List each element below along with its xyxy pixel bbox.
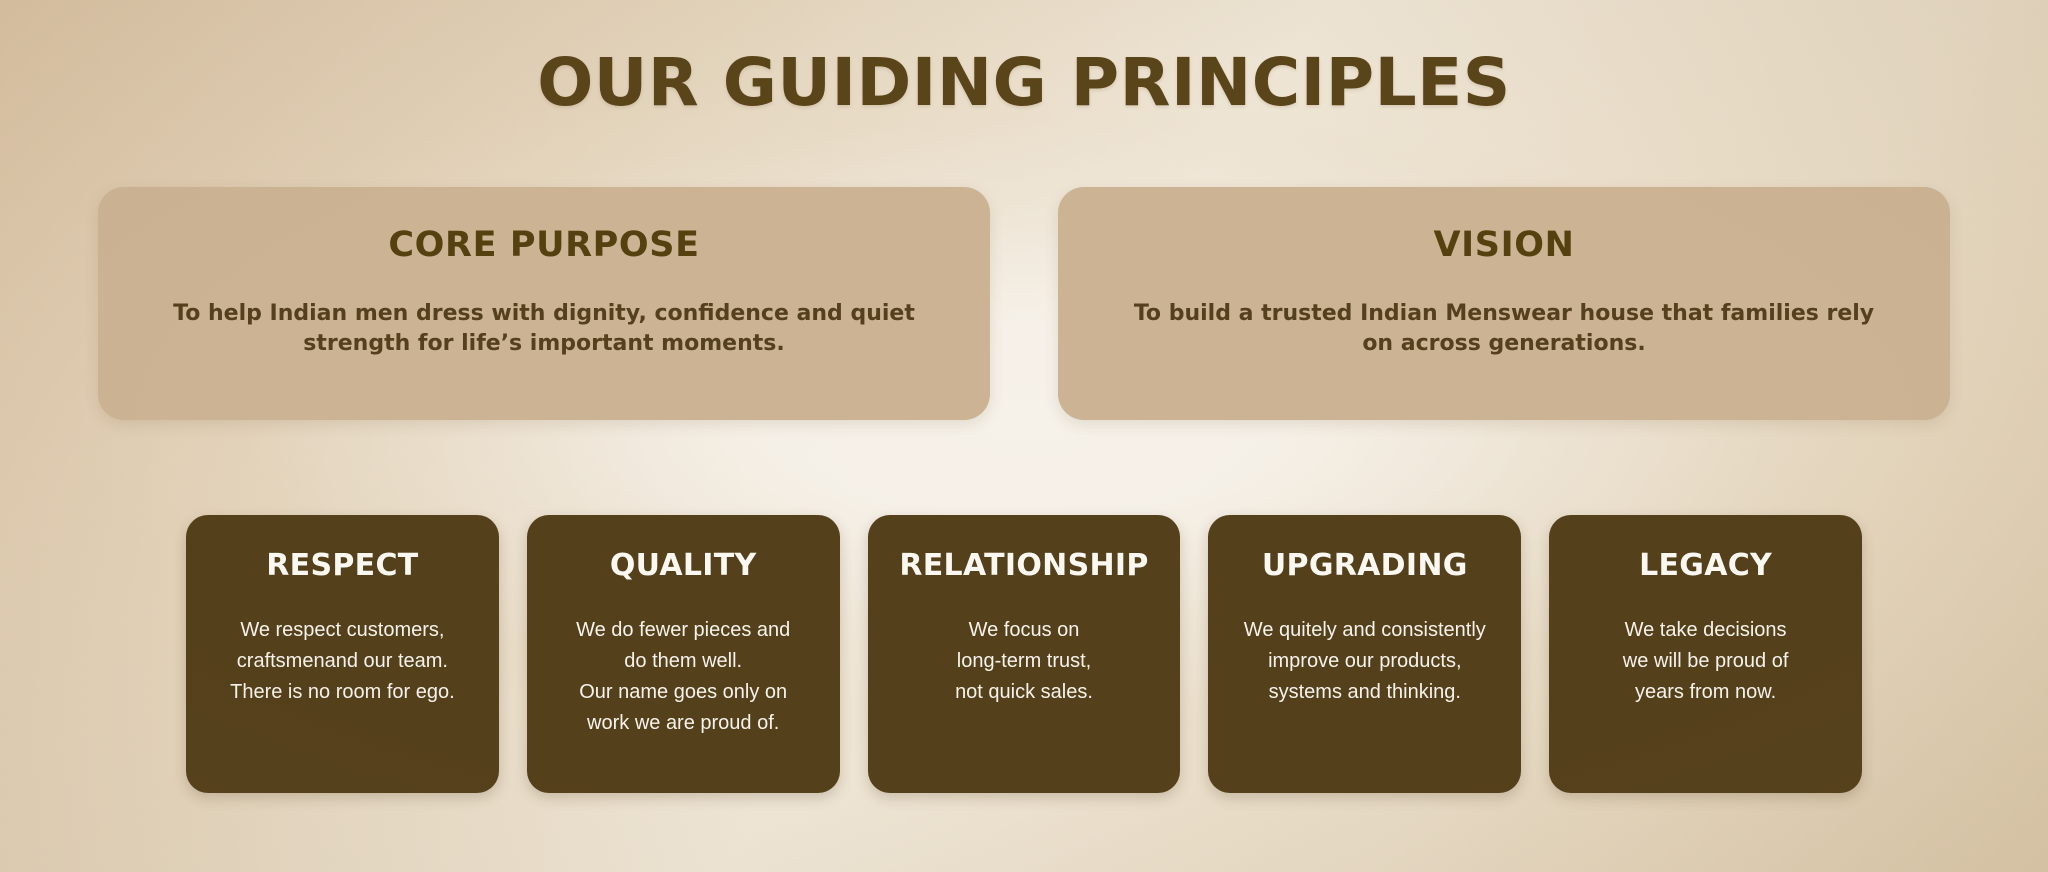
card-vision-title: VISION	[1434, 225, 1575, 265]
card-respect[interactable]: RESPECT We respect customers, craftsmena…	[186, 515, 499, 793]
card-respect-title: RESPECT	[266, 549, 418, 583]
card-vision[interactable]: VISION To build a trusted Indian Menswea…	[1058, 187, 1950, 420]
page-title: OUR GUIDING PRINCIPLES	[0, 45, 2048, 121]
card-quality-title: QUALITY	[610, 549, 757, 583]
card-upgrading[interactable]: UPGRADING We quitely and consistently im…	[1208, 515, 1521, 793]
card-relationship-title: RELATIONSHIP	[899, 549, 1148, 583]
card-core-purpose-body: To help Indian men dress with dignity, c…	[164, 299, 924, 359]
card-quality[interactable]: QUALITY We do fewer pieces and do them w…	[527, 515, 840, 793]
card-relationship[interactable]: RELATIONSHIP We focus on long-term trust…	[868, 515, 1181, 793]
card-relationship-body: We focus on long-term trust, not quick s…	[955, 615, 1093, 708]
card-legacy-body: We take decisions we will be proud of ye…	[1623, 615, 1789, 708]
card-upgrading-title: UPGRADING	[1262, 549, 1468, 583]
card-legacy[interactable]: LEGACY We take decisions we will be prou…	[1549, 515, 1862, 793]
card-vision-body: To build a trusted Indian Menswear house…	[1124, 299, 1884, 359]
card-core-purpose-title: CORE PURPOSE	[388, 225, 699, 265]
card-legacy-title: LEGACY	[1639, 549, 1772, 583]
card-core-purpose[interactable]: CORE PURPOSE To help Indian men dress wi…	[98, 187, 990, 420]
card-respect-body: We respect customers, craftsmenand our t…	[230, 615, 455, 708]
card-quality-body: We do fewer pieces and do them well. Our…	[576, 615, 790, 739]
values-row: RESPECT We respect customers, craftsmena…	[186, 515, 1862, 793]
principles-top-row: CORE PURPOSE To help Indian men dress wi…	[98, 187, 1950, 420]
slide-canvas: OUR GUIDING PRINCIPLES CORE PURPOSE To h…	[0, 0, 2048, 872]
card-upgrading-body: We quitely and consistently improve our …	[1244, 615, 1486, 708]
